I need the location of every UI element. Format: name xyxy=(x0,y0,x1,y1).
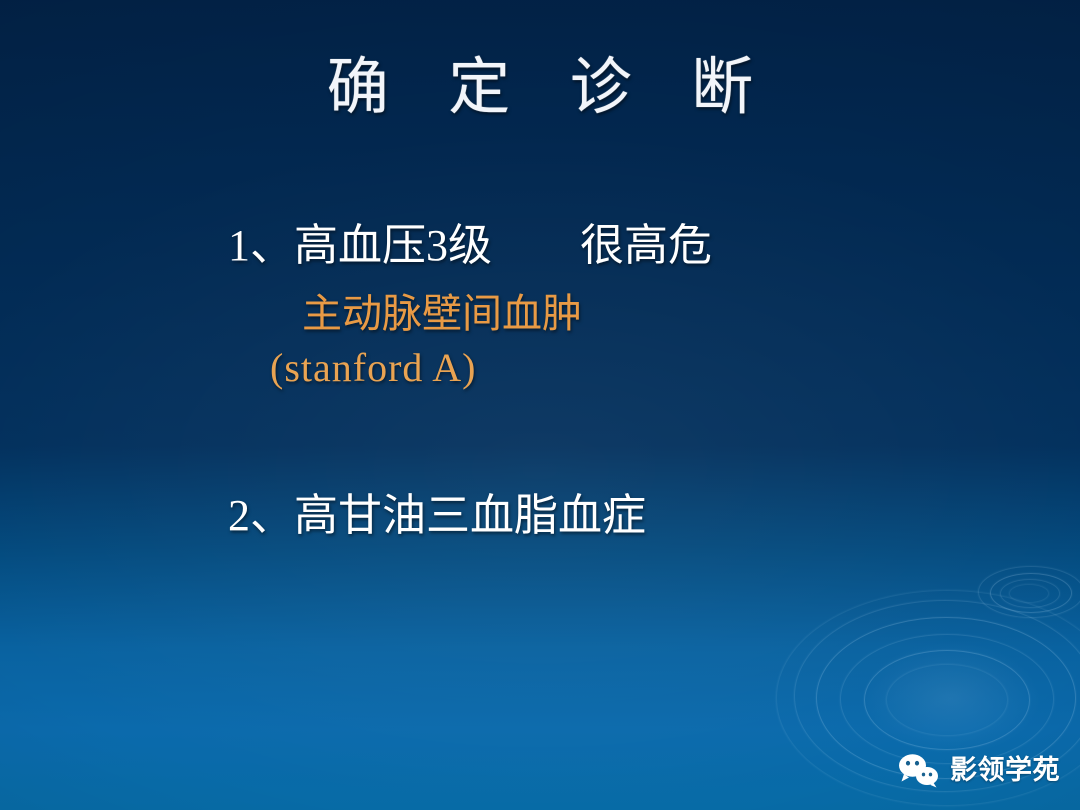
ripple-ring-small xyxy=(1000,579,1060,608)
watermark: 影领学苑 xyxy=(897,752,1060,788)
ripple-ring-small xyxy=(990,573,1072,613)
ripple-center-glow xyxy=(836,626,1066,771)
ripple-ring xyxy=(840,634,1054,764)
presentation-slide: 确 定 诊 断 1、高血压3级 很高危 主动脉壁间血肿 (stanford A)… xyxy=(0,0,1080,810)
diagnosis-item-1-detail: 主动脉壁间血肿 xyxy=(228,294,988,334)
diagnosis-item-2: 2、高甘油三血脂血症 xyxy=(228,494,988,538)
ripple-ring-small xyxy=(978,566,1080,618)
slide-title: 确 定 诊 断 xyxy=(0,52,1080,125)
wechat-logo-icon xyxy=(897,752,941,788)
ripple-ring-small xyxy=(1009,584,1049,603)
diagnosis-item-1: 1、高血压3级 很高危 xyxy=(228,224,988,268)
watermark-label: 影领学苑 xyxy=(950,757,1060,784)
ripple-ring xyxy=(886,664,1008,736)
ripple-ring xyxy=(864,650,1030,750)
diagnosis-item-1-classification: (stanford A) xyxy=(228,348,988,388)
diagnosis-list: 1、高血压3级 很高危 主动脉壁间血肿 (stanford A) 2、高甘油三血… xyxy=(228,224,988,538)
